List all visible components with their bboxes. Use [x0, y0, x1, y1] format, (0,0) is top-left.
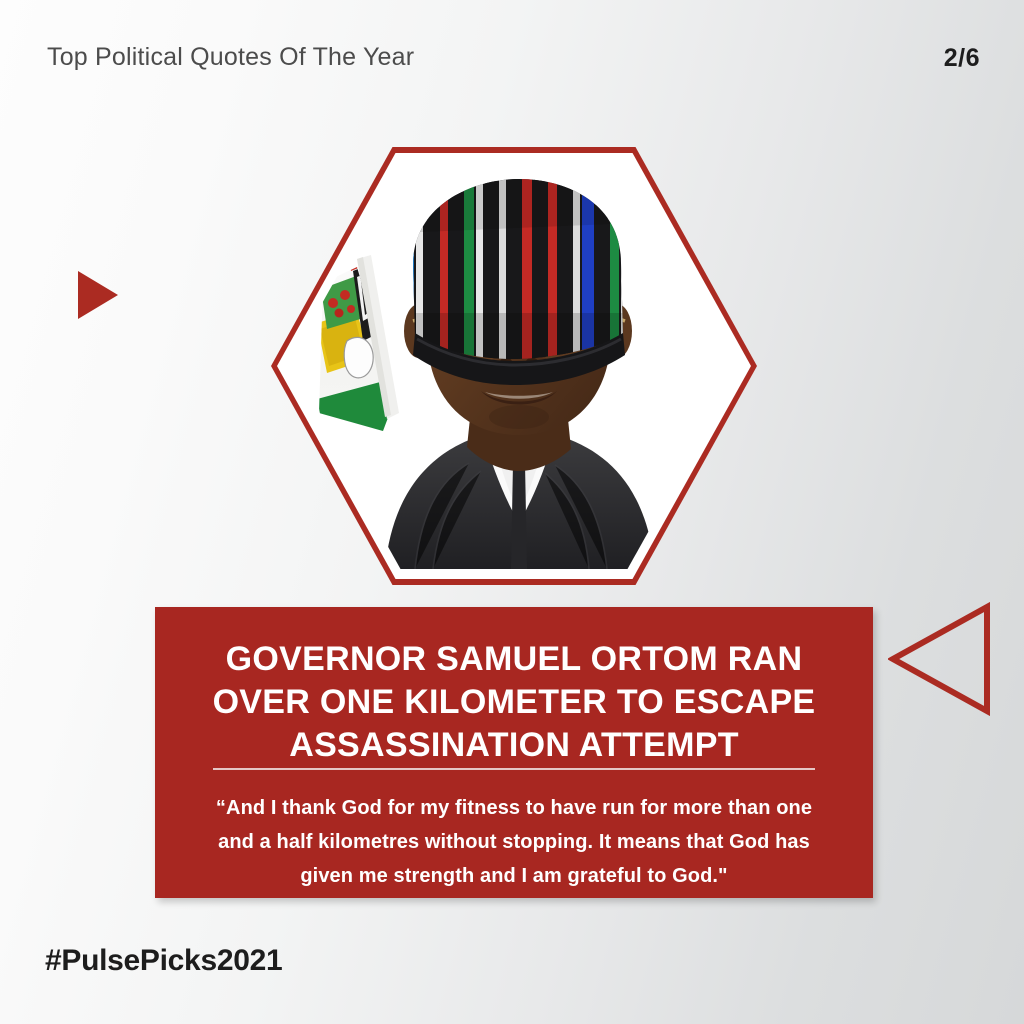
quote-body: “And I thank God for my fitness to have …: [155, 767, 873, 893]
play-triangle-left-icon: [888, 602, 992, 716]
page-title: Top Political Quotes Of The Year: [47, 43, 414, 72]
play-triangle-right-icon: [78, 271, 118, 319]
panel-divider: [213, 768, 815, 770]
hashtag-label: #PulsePicks2021: [45, 944, 282, 978]
quote-panel: GOVERNOR SAMUEL ORTOM RAN OVER ONE KILOM…: [155, 607, 873, 898]
quote-headline: GOVERNOR SAMUEL ORTOM RAN OVER ONE KILOM…: [155, 607, 873, 767]
page-indicator: 2/6: [944, 44, 980, 73]
portrait-frame: [271, 147, 757, 585]
quote-card-slide: Top Political Quotes Of The Year 2/6: [0, 0, 1024, 1024]
